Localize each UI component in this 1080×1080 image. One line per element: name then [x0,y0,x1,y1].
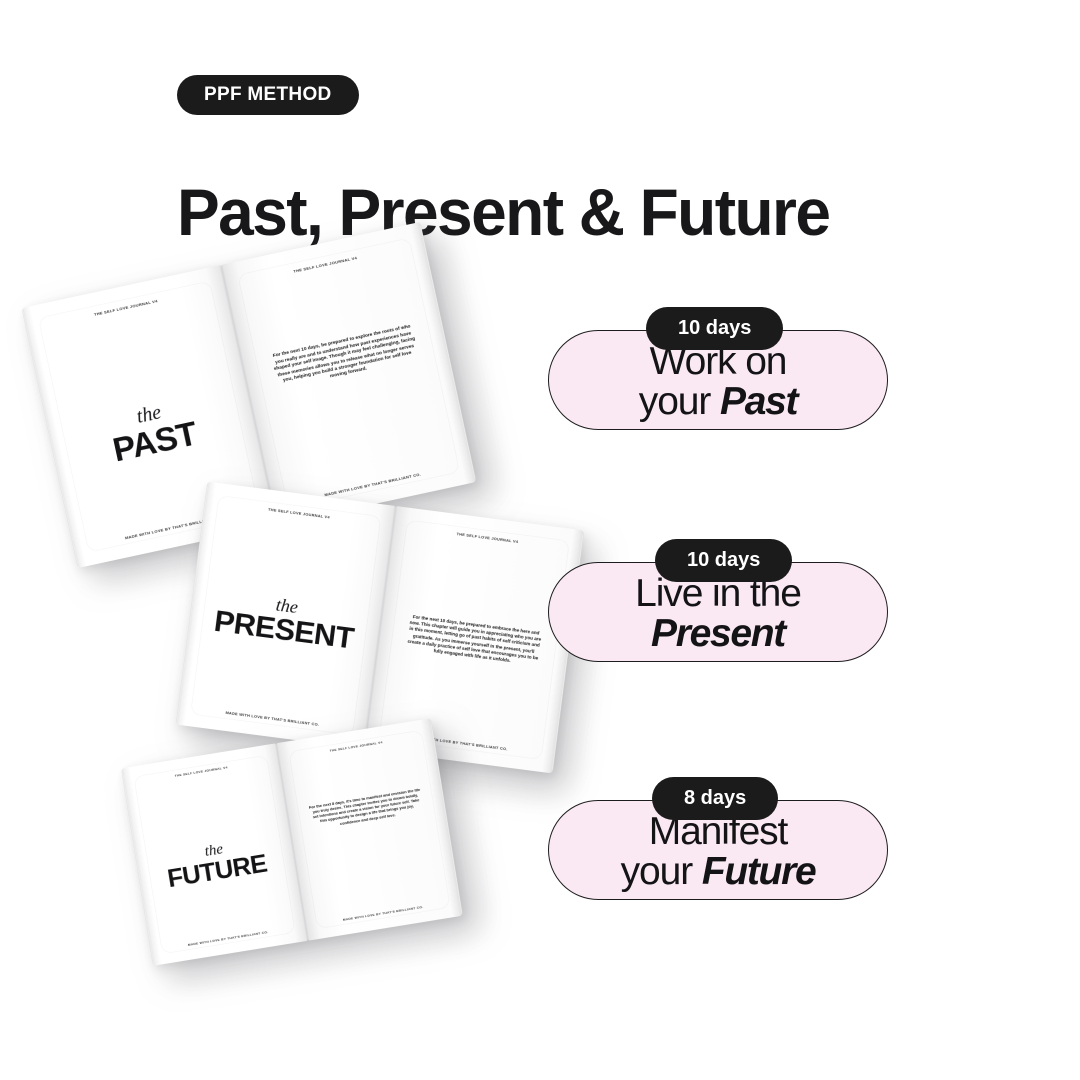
duration-badge-past: 10 days [646,307,783,350]
feature-card-present-emphasis: Present [651,612,785,655]
book-mockups-group: THE SELF LOVE JOURNAL V4 the PAST MADE W… [0,0,620,1080]
feature-card-past-emphasis: Past [720,380,797,423]
feature-cards-group: Work on your Past 10 days Live in the Pr… [545,0,945,1080]
book-page-left-present: THE SELF LOVE JOURNAL V4 the PRESENT MAD… [176,482,396,749]
feature-card-present-text: Live in the Present [549,570,887,654]
feature-card-future-line2-plain: your [621,850,702,893]
duration-badge-present: 10 days [655,539,792,582]
book-spread-future: THE SELF LOVE JOURNAL V4 the FUTURE MADE… [121,718,463,966]
duration-badge-future: 8 days [652,777,778,820]
feature-card-future-emphasis: Future [702,850,816,893]
feature-card-past-text: Work on your Past [549,338,887,422]
feature-card-past-line2-plain: your [639,380,720,423]
book-page-right-future: THE SELF LOVE JOURNAL V4 For the next 8 … [276,718,463,941]
book-page-left-future: THE SELF LOVE JOURNAL V4 the FUTURE MADE… [121,743,308,966]
feature-card-future-text: Manifest your Future [549,808,887,892]
